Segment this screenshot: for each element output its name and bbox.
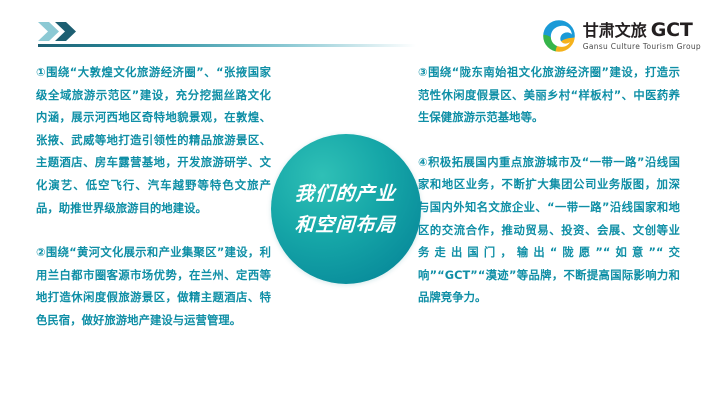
badge-line-2: 和空间布局: [295, 210, 398, 240]
logo-chinese-name: 甘肃文旅: [583, 23, 647, 39]
double-chevron-right-icon: [38, 22, 84, 41]
paragraph-3: ③围绕“陇东南始祖文化旅游经济圈”建设，打造示范性休闲度假景区、美丽乡村“样板村…: [418, 62, 680, 130]
right-text-column: ③围绕“陇东南始祖文化旅游经济圈”建设，打造示范性休闲度假景区、美丽乡村“样板村…: [418, 62, 680, 310]
logo-abbreviation: GCT: [651, 21, 693, 40]
logo-wordmark: 甘肃文旅 GCT Gansu Culture Tourism Group: [583, 21, 701, 51]
logo-english-name: Gansu Culture Tourism Group: [583, 42, 701, 51]
paragraph-1: ①围绕“大敦煌文化旅游经济圈”、“张掖国家级全域旅游示范区”建设，充分挖掘丝路文…: [36, 62, 271, 220]
slide-header: 甘肃文旅 GCT Gansu Culture Tourism Group: [0, 0, 715, 58]
left-text-column: ①围绕“大敦煌文化旅游经济圈”、“张掖国家级全域旅游示范区”建设，充分挖掘丝路文…: [36, 62, 271, 333]
brand-logo: 甘肃文旅 GCT Gansu Culture Tourism Group: [542, 19, 701, 53]
gct-swirl-emblem-icon: [542, 19, 576, 53]
center-title-badge: 我们的产业 和空间布局: [271, 134, 421, 284]
paragraph-4: ④积极拓展国内重点旅游城市及“一带一路”沿线国家和地区业务，不断扩大集团公司业务…: [418, 152, 680, 310]
paragraph-2: ②围绕“黄河文化展示和产业集聚区”建设，利用兰白都市圈客源市场优势，在兰州、定西…: [36, 242, 271, 332]
slide-canvas: 甘肃文旅 GCT Gansu Culture Tourism Group ①围绕…: [0, 0, 715, 402]
badge-line-1: 我们的产业: [295, 179, 398, 209]
header-divider: [38, 44, 416, 47]
